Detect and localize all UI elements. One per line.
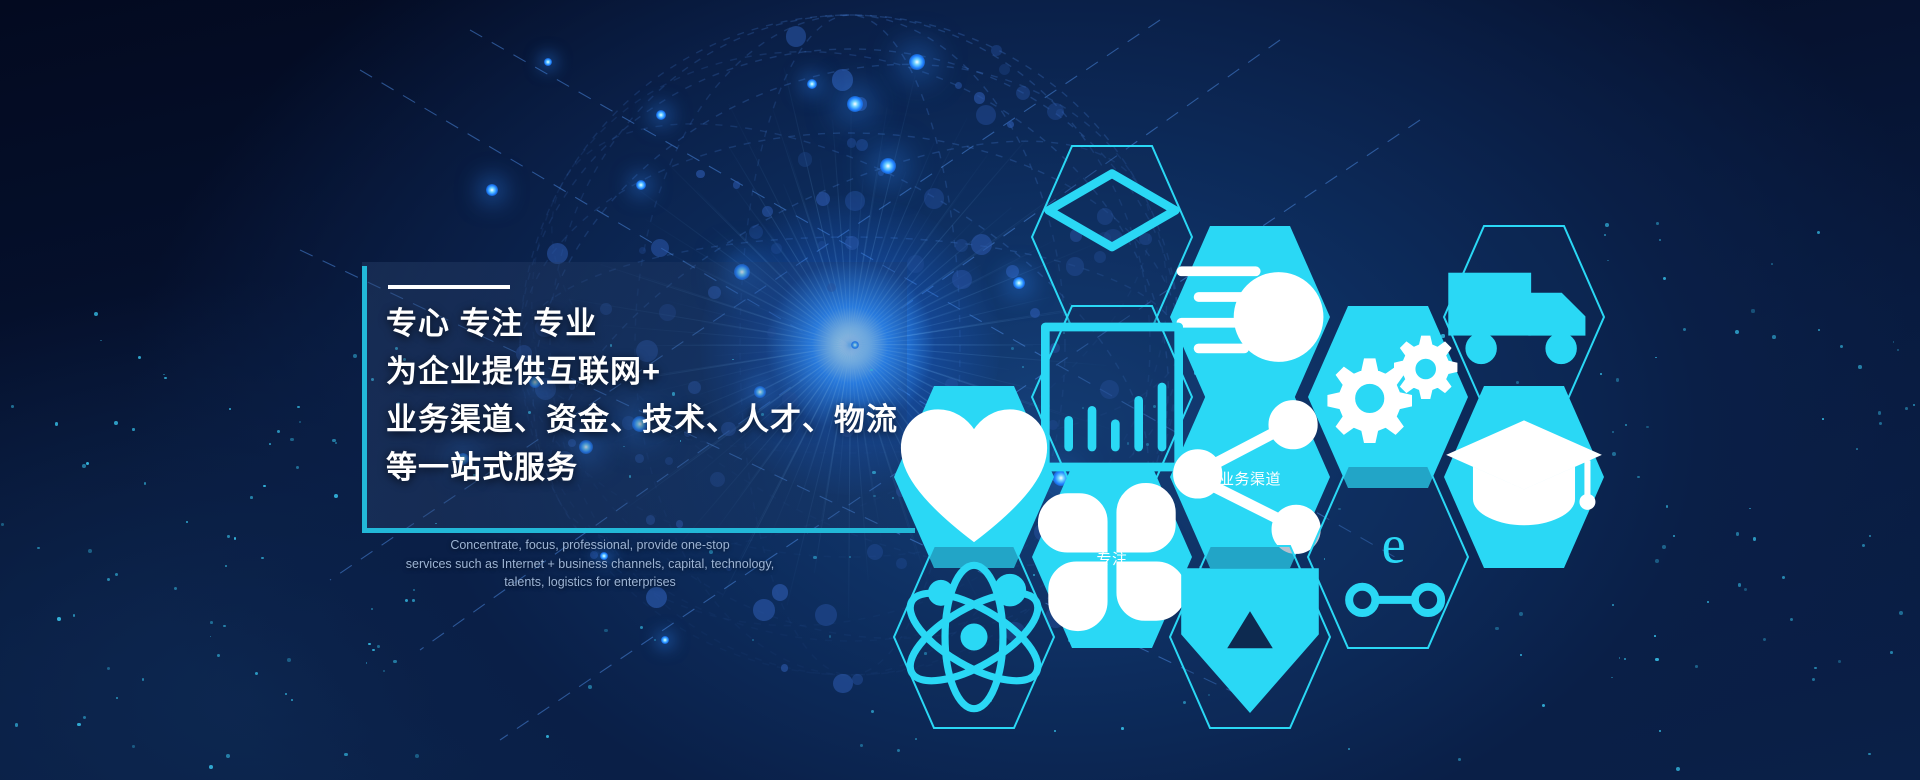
subtitle-english: Concentrate, focus, professional, provid… — [400, 536, 780, 592]
hexagon-talent[interactable]: 人才 — [1444, 386, 1604, 568]
hexagon-logistics[interactable]: 物流 — [1444, 226, 1604, 408]
background-globe — [0, 0, 1920, 780]
hex-label: 专心 — [958, 472, 989, 487]
page-title: 专心 专注 专业 为企业提供互联网+ 业务渠道、资金、技术、人才、物流 等一站式… — [386, 300, 926, 492]
hexagon-ecommerce[interactable]: e — [1308, 466, 1468, 648]
particle-field — [0, 0, 1920, 780]
hero-banner: 专心 专注 专业 为企业提供互联网+ 业务渠道、资金、技术、人才、物流 等一站式… — [0, 0, 1920, 780]
hexagon-pro[interactable]: 专业 — [1170, 546, 1330, 728]
hex-label: 专业 — [1234, 632, 1265, 647]
hexagon-focus2[interactable]: 专注 — [1032, 466, 1192, 648]
hexagon-layers[interactable] — [1032, 146, 1192, 328]
hex-label: 人才 — [1508, 472, 1539, 487]
hexagon-atom[interactable] — [894, 546, 1054, 728]
hex-label: 物流 — [1508, 312, 1539, 327]
headline-divider — [388, 285, 510, 289]
hex-label: 资金 — [1234, 312, 1265, 327]
hexagon-channel[interactable]: 业务渠道 — [1170, 386, 1330, 568]
light-rays — [0, 0, 1920, 780]
hexagon-cluster: 资金 物流 — [0, 0, 1920, 780]
hexagon-capital[interactable]: 资金 — [1170, 226, 1330, 408]
hexagon-chart[interactable] — [1032, 306, 1192, 488]
hex-label: 业务渠道 — [1219, 472, 1281, 487]
hex-label: 专注 — [1096, 552, 1127, 567]
hexagon-tech[interactable]: 技术 — [1308, 306, 1468, 488]
svg-text:e: e — [1382, 515, 1406, 575]
hex-label: 技术 — [1372, 392, 1403, 407]
